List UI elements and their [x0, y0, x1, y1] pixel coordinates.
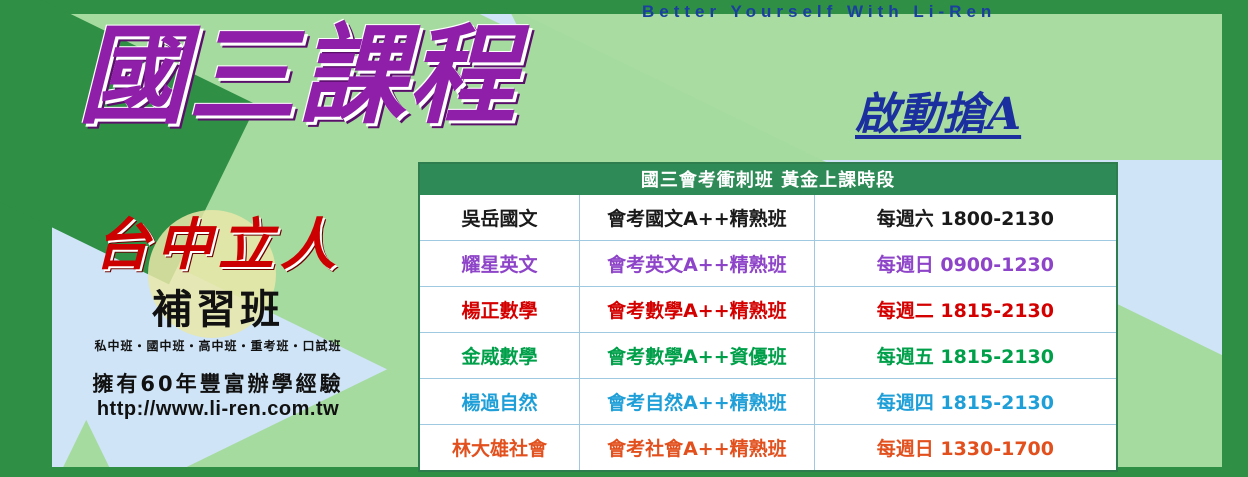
cell-time: 每週日 0900-1230	[814, 241, 1117, 287]
page-title: 國三課程	[78, 18, 518, 137]
cell-time: 每週五 1815-2130	[814, 333, 1117, 379]
table-row: 楊正數學會考數學A++精熟班每週二 1815-2130	[419, 287, 1117, 333]
schedule-table: 國三會考衝刺班 黃金上課時段 吳岳國文會考國文A++精熟班每週六 1800-21…	[418, 162, 1118, 472]
logo-url[interactable]: http://www.li-ren.com.tw	[38, 398, 398, 421]
table-row: 吳岳國文會考國文A++精熟班每週六 1800-2130	[419, 195, 1117, 241]
logo-type: 補習班	[38, 277, 398, 335]
cell-teacher: 耀星英文	[419, 241, 579, 287]
logo-block: 台中立人 補習班 私中班・國中班・高中班・重考班・口試班 擁有60年豐富辦學經驗…	[38, 200, 398, 421]
cell-course: 會考國文A++精熟班	[579, 195, 814, 241]
cell-teacher: 楊正數學	[419, 287, 579, 333]
cell-course: 會考自然A++精熟班	[579, 379, 814, 425]
background-right-band	[1222, 0, 1248, 477]
table-row: 金威數學會考數學A++資優班每週五 1815-2130	[419, 333, 1117, 379]
tagline: Better Yourself With Li-Ren	[642, 2, 996, 22]
table-row: 楊過自然會考自然A++精熟班每週四 1815-2130	[419, 379, 1117, 425]
cell-time: 每週二 1815-2130	[814, 287, 1117, 333]
cell-teacher: 林大雄社會	[419, 425, 579, 472]
cell-teacher: 金威數學	[419, 333, 579, 379]
cell-course: 會考數學A++資優班	[579, 333, 814, 379]
poster-root: Better Yourself With Li-Ren 國三課程 啟動搶A 台中…	[0, 0, 1248, 477]
schedule-header-row: 國三會考衝刺班 黃金上課時段	[419, 163, 1117, 195]
cell-teacher: 楊過自然	[419, 379, 579, 425]
schedule-header-title: 國三會考衝刺班 黃金上課時段	[419, 163, 1117, 195]
cell-course: 會考英文A++精熟班	[579, 241, 814, 287]
schedule-body: 吳岳國文會考國文A++精熟班每週六 1800-2130耀星英文會考英文A++精熟…	[419, 195, 1117, 472]
page-subtitle: 啟動搶A	[855, 78, 1021, 142]
cell-time: 每週日 1330-1700	[814, 425, 1117, 472]
cell-time: 每週六 1800-2130	[814, 195, 1117, 241]
logo-experience: 擁有60年豐富辦學經驗	[38, 368, 398, 398]
table-row: 林大雄社會會考社會A++精熟班每週日 1330-1700	[419, 425, 1117, 472]
logo-name: 台中立人	[38, 200, 398, 281]
background-top-band	[0, 0, 1248, 14]
logo-class-list: 私中班・國中班・高中班・重考班・口試班	[38, 337, 398, 354]
table-row: 耀星英文會考英文A++精熟班每週日 0900-1230	[419, 241, 1117, 287]
cell-course: 會考數學A++精熟班	[579, 287, 814, 333]
cell-course: 會考社會A++精熟班	[579, 425, 814, 472]
cell-teacher: 吳岳國文	[419, 195, 579, 241]
cell-time: 每週四 1815-2130	[814, 379, 1117, 425]
